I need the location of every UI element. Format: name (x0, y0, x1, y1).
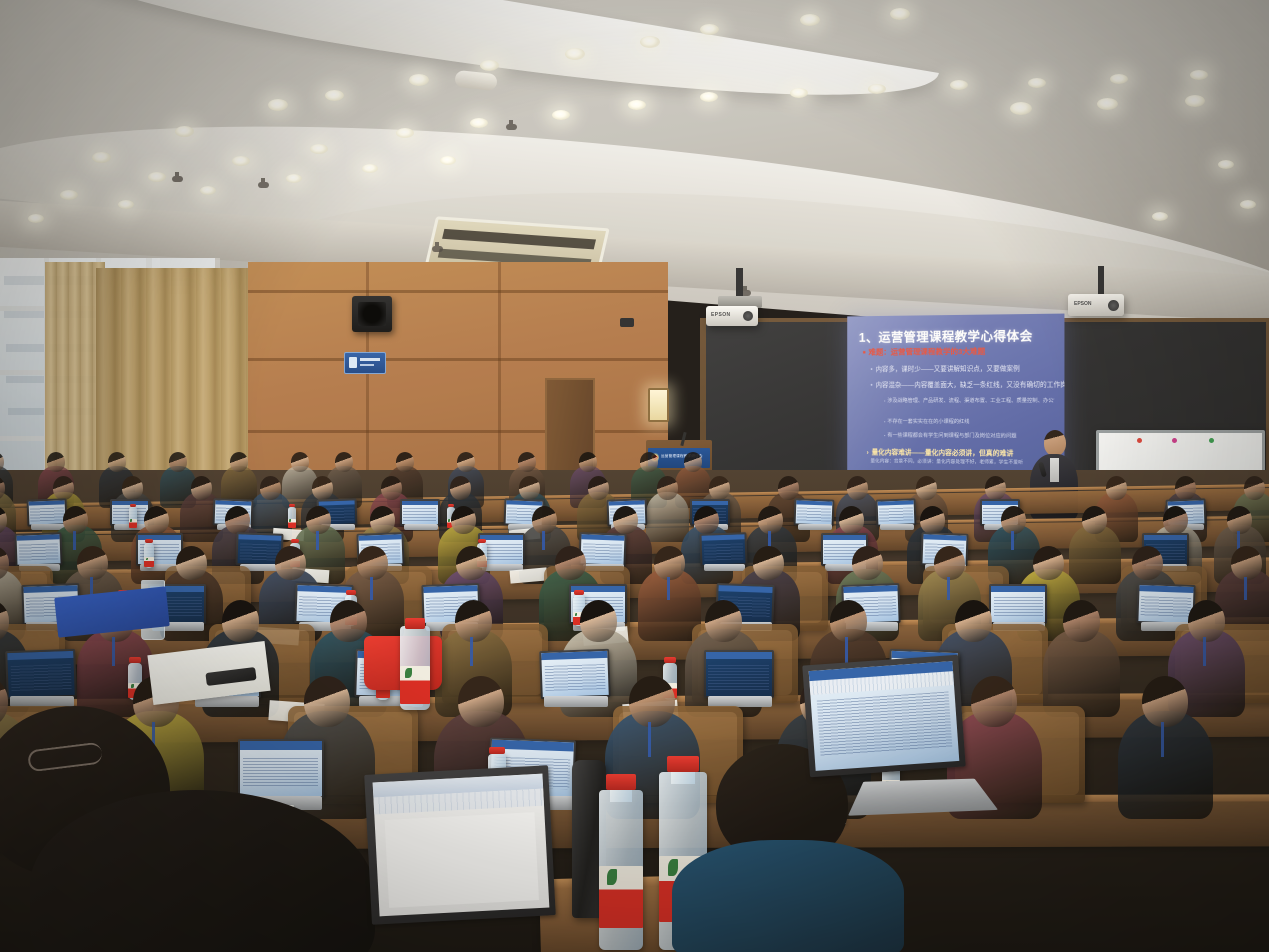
downlight-icon (409, 74, 429, 86)
attendee-head (335, 452, 353, 472)
bottle-cap (130, 504, 136, 507)
presenter-shirt (1050, 458, 1059, 482)
attendee-head (1106, 476, 1127, 500)
attendee-head (458, 676, 504, 727)
attendee-head (758, 506, 783, 534)
attendee-head (260, 476, 281, 500)
downlight-icon (1218, 160, 1234, 169)
app-titlebar (423, 585, 477, 593)
attendee-head (1163, 506, 1188, 534)
attendee-head (753, 546, 784, 580)
panel-seam (248, 290, 668, 293)
attendee-head (1227, 506, 1252, 534)
downlight-icon (286, 174, 302, 183)
content-lines (10, 664, 72, 691)
bottle-label (144, 557, 154, 567)
downlight-icon (118, 200, 134, 209)
attendee-head (709, 476, 730, 500)
panel-seam (248, 358, 668, 361)
slide-red-subhead: 难题：运营管理课程教学的3大难题 (863, 345, 1048, 357)
bottle-cap (129, 657, 141, 663)
attendee-head (629, 676, 675, 727)
downlight-icon (1110, 74, 1128, 84)
slide-subbullet-2: 不存在一套实实在在的小课程的红线 (884, 418, 969, 425)
attendee-head (580, 600, 617, 642)
attendee-head (456, 546, 487, 580)
downlight-icon (1097, 98, 1118, 110)
laptop-screen[interactable] (878, 500, 915, 524)
bottle-label (288, 519, 296, 528)
lanyard (947, 577, 950, 600)
attendee-head (555, 546, 586, 580)
laptop-keyboard[interactable] (404, 524, 438, 530)
attendee-head (291, 452, 309, 472)
bottle-cap (574, 590, 584, 595)
attendee-head (1001, 506, 1026, 534)
bottle-label-mid (400, 666, 430, 704)
spreadsheet-rows (817, 691, 953, 756)
downlight-icon (1240, 200, 1256, 209)
bottle-cap (489, 747, 505, 754)
lanyard (1244, 577, 1247, 600)
lanyard (316, 531, 319, 550)
downlight-icon (1185, 95, 1205, 107)
lanyard (1011, 531, 1014, 550)
laptop-keyboard[interactable] (798, 524, 832, 530)
projector-icon-2: EPSON (1068, 294, 1124, 316)
wall-sconce-light (648, 388, 669, 422)
attendee-head (640, 452, 658, 472)
classroom-photo: 1、运营管理课程教学心得体会 难题：运营管理课程教学的3大难题 内容多，课时少—… (0, 0, 1269, 952)
laptop-screen[interactable] (580, 534, 624, 564)
attendee-head (778, 476, 799, 500)
app-titlebar (17, 534, 60, 540)
attendee-head (1175, 476, 1196, 500)
attendee-head (53, 476, 74, 500)
laptop-keyboard[interactable] (848, 779, 998, 816)
downlight-icon (800, 14, 820, 26)
smoke-detector-housing-icon (454, 70, 498, 91)
app-titlebar (1168, 500, 1204, 505)
attendee-head (985, 476, 1006, 500)
laptop-screen[interactable] (795, 500, 832, 524)
attendee-head (381, 476, 402, 500)
content-lines (582, 543, 622, 561)
attendee-head (1132, 546, 1163, 580)
downlight-icon (200, 186, 216, 195)
laptop-screen[interactable] (402, 501, 438, 524)
content-lines (708, 665, 769, 690)
attendee-head (579, 452, 597, 472)
doc-page (385, 812, 539, 908)
attendee-head (357, 546, 388, 580)
attendee-head (847, 476, 868, 500)
app-titlebar (480, 535, 523, 540)
app-titlebar (1139, 585, 1193, 593)
downlight-icon (268, 99, 288, 111)
laptop-keyboard[interactable] (704, 564, 745, 571)
attendee-head (451, 506, 476, 534)
slide-emphasis-sub: 量化内容：背景不同，必须讲：量化内容处理不好，老师累，学生不爱听 (870, 457, 1023, 465)
downlight-icon (470, 118, 488, 128)
app-titlebar (609, 500, 645, 505)
attendee-head (1033, 546, 1064, 580)
slide-heading: 1、运营管理课程教学心得体会 (859, 325, 1054, 346)
downlight-icon (325, 90, 344, 101)
app-titlebar (29, 500, 65, 505)
attendee-head (169, 452, 187, 472)
projector-brand-label: EPSON (711, 312, 731, 318)
bottle-cap (289, 504, 295, 507)
attendee-head (852, 546, 883, 580)
app-titlebar (240, 741, 322, 750)
app-titlebar (23, 585, 77, 593)
app-titlebar (298, 585, 352, 593)
laptop-screen[interactable] (240, 741, 322, 796)
bottle-cap (478, 539, 486, 543)
content-lines (797, 507, 831, 521)
attendee-head (1063, 600, 1100, 642)
content-lines (403, 508, 436, 521)
downlight-icon (396, 128, 414, 138)
laptop-screen[interactable] (373, 774, 550, 917)
laptop-screen[interactable] (991, 586, 1045, 622)
content-lines (880, 507, 914, 521)
lanyard (542, 531, 545, 550)
downlight-icon (1010, 102, 1032, 115)
attendee-head (330, 600, 367, 642)
attendee-head (77, 546, 108, 580)
downlight-icon (232, 156, 250, 166)
magnet-green-icon (1209, 438, 1214, 443)
attendee-head (532, 506, 557, 534)
content-lines (19, 543, 59, 561)
attendee-head (694, 506, 719, 534)
attendee-head (518, 452, 536, 472)
attendee-head (654, 546, 685, 580)
app-titlebar (878, 500, 914, 505)
slide-bullet-2: 内容混杂——内容覆盖面大，缺乏一条红线，又没有确切的工作岗位对应 (870, 379, 1064, 390)
attendee-head (588, 476, 609, 500)
attendee-head (47, 452, 65, 472)
bottle-cap (664, 657, 676, 663)
magnet-red-icon (1137, 438, 1142, 443)
attendee-head (108, 452, 126, 472)
app-titlebar (991, 586, 1045, 592)
app-titlebar (706, 652, 772, 659)
app-titlebar (359, 534, 402, 540)
downlight-icon (628, 100, 646, 110)
downlight-icon (175, 126, 194, 137)
bottle-cap-mid (405, 618, 425, 629)
downlight-icon (890, 8, 910, 20)
bottle-cap-right (667, 756, 699, 772)
downlight-icon (480, 60, 499, 71)
sprinkler-icon (172, 176, 183, 182)
attendee-head (312, 476, 333, 500)
downlight-icon (640, 36, 660, 48)
app-titlebar (319, 500, 355, 505)
lanyard (73, 531, 76, 550)
downlight-icon (868, 84, 886, 94)
attendee-head (122, 476, 143, 500)
ceiling (0, 0, 1269, 300)
content-lines (240, 543, 280, 561)
attendee-head (144, 506, 169, 534)
app-titlebar (402, 501, 438, 505)
attendee-head (1244, 476, 1265, 500)
laptop-keyboard[interactable] (880, 524, 914, 530)
sprinkler-icon (506, 124, 517, 130)
body-silhouette (672, 840, 904, 952)
slide-subbullet-3: 有一些课程都会有学生问到课程与部门及岗位对应的问题 (884, 432, 1016, 440)
laptop-screen[interactable] (809, 661, 960, 771)
attendee-head (1082, 506, 1107, 534)
lanyard (667, 577, 670, 600)
attendee-head (370, 506, 395, 534)
attendee-head (971, 676, 1017, 727)
downlight-icon (552, 110, 570, 120)
projector-lens-icon (743, 311, 753, 321)
attendee-head (1231, 546, 1262, 580)
projector-brand-label-2: EPSON (1074, 301, 1092, 307)
attendee-head (396, 452, 414, 472)
attendee-head (657, 476, 678, 500)
presenter-head (1044, 430, 1066, 456)
attendee-head (684, 452, 702, 472)
app-titlebar (692, 501, 728, 505)
attendee-head (934, 546, 965, 580)
lanyard (1203, 637, 1206, 666)
app-titlebar (7, 651, 73, 661)
attendee-head (176, 546, 207, 580)
bottle-label (129, 519, 137, 528)
app-titlebar (701, 534, 744, 540)
app-titlebar (506, 500, 542, 505)
downlight-icon (310, 144, 328, 154)
content-lines (1140, 596, 1190, 618)
attendee-head (222, 600, 259, 642)
laptop-screen[interactable] (29, 500, 66, 524)
attendee-head (955, 600, 992, 642)
app-titlebar (1144, 535, 1187, 540)
laptop-screen[interactable] (17, 534, 61, 564)
lanyard (370, 577, 373, 600)
sprinkler-icon (432, 246, 443, 252)
laptop-screen[interactable] (7, 651, 74, 697)
downlight-icon (1152, 212, 1168, 221)
bottle-cap-left (606, 774, 636, 790)
app-titlebar (844, 585, 898, 593)
bottle-cap (145, 539, 153, 543)
magnet-pink-icon (1172, 438, 1177, 443)
attendee-head (63, 506, 88, 534)
slide-bullet-1: 内容多，课时少——又要讲解知识点，又要做案例 (870, 363, 1019, 374)
attendee-head (457, 452, 475, 472)
downlight-icon (362, 164, 378, 173)
attendee-head (705, 600, 742, 642)
projector-mount-arm-2 (1098, 266, 1104, 296)
app-titlebar (982, 501, 1018, 505)
attendee-head (225, 506, 250, 534)
downlight-icon (1028, 78, 1046, 88)
attendee-head (916, 476, 937, 500)
attendee-head (304, 676, 350, 727)
laptop-screen[interactable] (701, 534, 745, 564)
app-titlebar (216, 500, 252, 505)
projection-screen: 1、运营管理课程教学心得体会 难题：运营管理课程教学的3大难题 内容多，课时少—… (847, 314, 1064, 485)
bottle-label-left (599, 866, 643, 928)
lanyard (648, 722, 651, 757)
downlight-icon (92, 152, 111, 163)
app-titlebar (581, 534, 624, 540)
app-titlebar (239, 534, 282, 540)
attendee-head (275, 546, 306, 580)
app-titlebar (796, 500, 832, 505)
attendee-head (920, 506, 945, 534)
attendee-head (1188, 600, 1225, 642)
downlight-icon (28, 214, 44, 223)
slide-emphasis: 量化内容难讲——量化内容必须讲，但真的难讲 (867, 446, 1014, 457)
downlight-icon (565, 48, 585, 60)
attendee-head (455, 600, 492, 642)
laptop-screen[interactable] (1138, 585, 1193, 623)
content-lines (703, 543, 743, 561)
attendee-head (450, 476, 471, 500)
bottle-cap (291, 539, 299, 543)
attendee-body (1043, 629, 1120, 717)
wall-speaker-icon (352, 296, 392, 332)
slide-subbullet-1: 涉及战略管理、产品研发、流程、渠道布置、工业工程、质量控制、办公管理、计划编制、… (884, 397, 1054, 404)
downlight-icon (790, 88, 808, 98)
downlight-icon (60, 190, 78, 200)
attendee-head (613, 506, 638, 534)
downlight-icon (148, 172, 166, 182)
content-lines (994, 597, 1044, 617)
attendee-head (230, 452, 248, 472)
attendee-body (1118, 711, 1213, 819)
laptop-screen[interactable] (706, 652, 772, 696)
downlight-icon (700, 24, 719, 35)
lanyard (112, 637, 115, 666)
laptop-keyboard[interactable] (544, 696, 608, 707)
bottle-cap (346, 590, 356, 595)
app-titlebar (718, 585, 772, 593)
app-titlebar (923, 534, 966, 540)
app-titlebar (823, 535, 866, 540)
projector-icon: EPSON (706, 306, 758, 326)
downlight-icon (1190, 70, 1208, 80)
content-lines (544, 664, 606, 691)
lanyard (470, 637, 473, 666)
attendee-head (306, 506, 331, 534)
attendee-head (191, 476, 212, 500)
panel-seam (248, 430, 668, 433)
app-titlebar (541, 651, 607, 661)
downlight-icon (950, 80, 968, 90)
content-lines (482, 544, 522, 560)
attendee-head (519, 476, 540, 500)
downlight-icon (700, 92, 718, 102)
bottle-cap (448, 504, 454, 507)
sprinkler-icon (258, 182, 269, 188)
ceiling-camera-icon (620, 318, 634, 327)
attendee-head (1142, 676, 1188, 727)
attendee-head (839, 506, 864, 534)
lanyard (1161, 722, 1164, 757)
content-lines (243, 758, 318, 789)
projector-lens-icon-2 (1108, 300, 1119, 311)
content-lines (30, 507, 64, 521)
downlight-icon (440, 156, 456, 165)
attendee-head (830, 600, 867, 642)
blue-wall-sign (344, 352, 386, 374)
laptop-screen[interactable] (541, 651, 608, 697)
